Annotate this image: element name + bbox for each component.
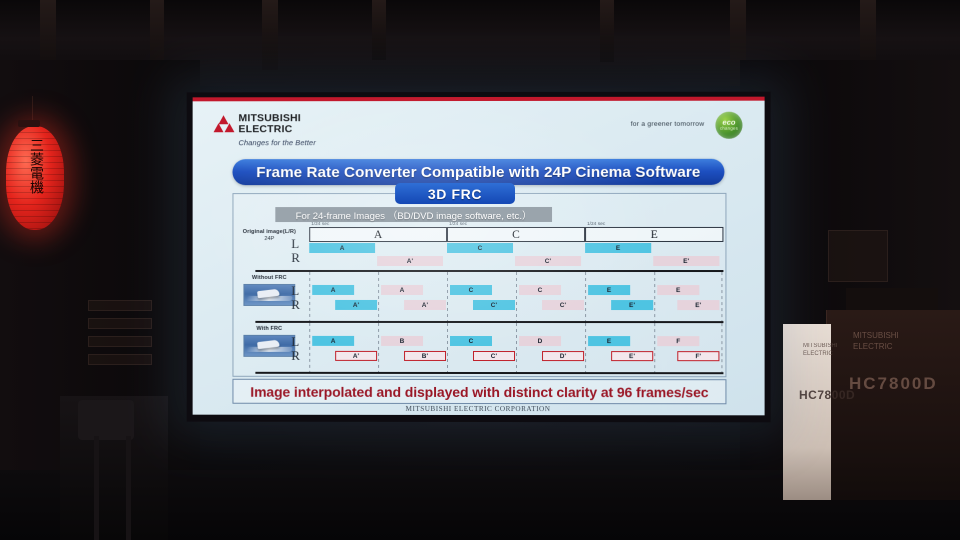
diagram-row-with-frc: With FRC L R A B C	[233, 323, 723, 373]
without-frc-right-block-4: C'	[542, 300, 584, 310]
with-frc-interpolated-block-2: B'	[404, 351, 446, 361]
without-frc-left-block-1: A	[312, 285, 354, 295]
without-frc-left-block-3: C	[450, 285, 492, 295]
without-frc-right-block-3: C'	[473, 300, 515, 310]
projection-screen[interactable]: MITSUBISHI ELECTRIC Changes for the Bett…	[187, 92, 771, 423]
wall-lattice	[88, 354, 152, 365]
eye-label-R-with-frc: R	[291, 349, 300, 362]
ceiling-beam	[262, 0, 278, 70]
original-frame-box-C: C	[447, 227, 585, 242]
with-frc-left-block-5: E	[588, 336, 630, 346]
with-frc-left-block-1: A	[312, 336, 354, 346]
source-format-label: For 24-frame Images （BD/DVD image softwa…	[296, 207, 532, 221]
tick-divider	[447, 323, 448, 373]
corporation-footer: MITSUBISHI ELECTRIC CORPORATION	[193, 405, 765, 414]
original-right-block-E: E'	[653, 256, 719, 266]
sample-image-thumbnail-without-frc	[243, 284, 295, 306]
row-label-without-frc: Without FRC	[237, 275, 301, 281]
brand-name: MITSUBISHI ELECTRIC	[238, 113, 315, 134]
row-label-original-line1: Original image(L/R)	[237, 229, 301, 235]
slide-top-accent-bar	[193, 97, 765, 102]
with-frc-left-block-2: B	[381, 336, 423, 346]
tripod-leg	[94, 436, 99, 540]
tick-divider	[309, 323, 310, 373]
wall-lattice	[88, 318, 152, 329]
with-frc-left-block-4: D	[519, 336, 561, 346]
original-left-block-E: E	[585, 243, 651, 253]
eye-label-L-without-frc: L	[291, 284, 299, 297]
without-frc-track: A A C C E E A' A' C' C' E' E'	[309, 272, 723, 322]
product-box-brand-line1: MITSUBISHI	[853, 331, 899, 340]
mitsubishi-diamond-icon	[215, 115, 234, 132]
product-box-brand-line2: ELECTRIC	[853, 342, 893, 351]
tick-label-3: 1/24 sec	[587, 221, 605, 226]
diagram-row-original: Original image(L/R) 24P L R 1/24 sec 1/2…	[233, 221, 723, 271]
product-front-brand-line1: MITSUBISHI	[803, 343, 837, 349]
with-frc-left-block-6: F	[657, 336, 699, 346]
tick-divider	[654, 272, 655, 322]
tick-divider	[516, 323, 517, 373]
wall-lattice	[88, 336, 152, 347]
tick-divider	[378, 323, 379, 373]
product-box-brand: MITSUBISHI ELECTRIC	[853, 330, 899, 352]
brand-tagline: Changes for the Better	[238, 138, 315, 147]
with-frc-interpolated-block-3: C'	[473, 351, 515, 361]
without-frc-right-block-5: E'	[611, 300, 653, 310]
with-frc-interpolated-block-5: E'	[611, 351, 653, 361]
lantern-text: 三菱電機	[27, 138, 43, 194]
tick-divider	[378, 272, 379, 322]
tick-divider	[309, 272, 310, 322]
without-frc-right-block-6: E'	[677, 300, 719, 310]
mitsubishi-logo: MITSUBISHI ELECTRIC Changes for the Bett…	[215, 113, 316, 147]
conclusion-text: Image interpolated and displayed with di…	[250, 383, 708, 399]
tick-divider	[721, 323, 722, 373]
without-frc-right-block-1: A'	[335, 300, 377, 310]
original-right-block-C: C'	[515, 256, 581, 266]
diagram-row-without-frc: Without FRC L R A A C	[233, 272, 723, 322]
lantern-cap	[18, 120, 40, 127]
tripod-leg	[126, 436, 131, 540]
slide-title-banner: Frame Rate Converter Compatible with 24P…	[232, 159, 724, 185]
product-box: MITSUBISHI ELECTRIC HC7800D MITSUBISHI E…	[826, 310, 960, 500]
presentation-slide[interactable]: MITSUBISHI ELECTRIC Changes for the Bett…	[193, 97, 765, 416]
tick-divider	[721, 272, 722, 322]
sample-image-thumbnail-with-frc	[243, 335, 295, 357]
ceiling-beam	[372, 0, 386, 60]
greener-tomorrow-text: for a greener tomorrow	[631, 121, 705, 128]
without-frc-left-block-4: C	[519, 285, 561, 295]
source-format-bar: For 24-frame Images （BD/DVD image softwa…	[275, 207, 552, 222]
without-frc-right-block-2: A'	[404, 300, 446, 310]
eco-changes-badge-icon: eco changes	[715, 112, 742, 139]
tick-divider	[585, 272, 586, 322]
with-frc-track: A B C D E F A' B' C' D' E' F'	[309, 323, 723, 373]
original-track: 1/24 sec 1/24 sec 1/24 sec A C E A C E A…	[309, 221, 723, 271]
frc-timeline-diagram: Original image(L/R) 24P L R 1/24 sec 1/2…	[233, 221, 723, 373]
product-front-model: HC7800D	[799, 388, 855, 402]
original-left-block-C: C	[447, 243, 513, 253]
eye-label-R-original: R	[291, 251, 300, 264]
product-front-brand-line2: ELECTRIC	[803, 351, 833, 357]
without-frc-left-block-5: E	[588, 285, 630, 295]
eye-label-L-original: L	[291, 237, 299, 250]
wall-lattice	[88, 300, 152, 311]
product-box-front-panel: MITSUBISHI ELECTRIC HC7800D	[783, 324, 831, 500]
tick-divider	[447, 272, 448, 322]
original-frame-box-A: A	[309, 227, 447, 242]
with-frc-interpolated-block-6: F'	[677, 351, 719, 361]
tick-divider	[516, 272, 517, 322]
original-frame-box-E: E	[585, 227, 723, 242]
subtitle-pill: 3D FRC	[395, 183, 515, 204]
camera-head	[78, 400, 134, 440]
row-label-with-frc: With FRC	[237, 326, 301, 332]
original-right-block-A: A'	[377, 256, 443, 266]
original-left-block-A: A	[309, 243, 375, 253]
brand-name-line2: ELECTRIC	[238, 123, 292, 135]
slide-title: Frame Rate Converter Compatible with 24P…	[256, 163, 700, 180]
without-frc-left-block-6: E	[657, 285, 699, 295]
eye-label-R-without-frc: R	[291, 298, 300, 311]
tick-divider	[654, 323, 655, 373]
with-frc-interpolated-block-4: D'	[542, 351, 584, 361]
with-frc-interpolated-block-1: A'	[335, 351, 377, 361]
product-box-model: HC7800D	[849, 374, 938, 394]
wall-panel	[828, 230, 888, 282]
product-front-brand: MITSUBISHI ELECTRIC	[803, 342, 837, 358]
without-frc-left-block-2: A	[381, 285, 423, 295]
conclusion-banner: Image interpolated and displayed with di…	[232, 379, 726, 404]
subtitle-pill-label: 3D FRC	[428, 185, 482, 201]
eye-label-L-with-frc: L	[291, 335, 299, 348]
with-frc-left-block-3: C	[450, 336, 492, 346]
ceiling-beam	[600, 0, 614, 62]
eco-badge-sub: changes	[715, 126, 742, 131]
tick-divider	[585, 323, 586, 373]
